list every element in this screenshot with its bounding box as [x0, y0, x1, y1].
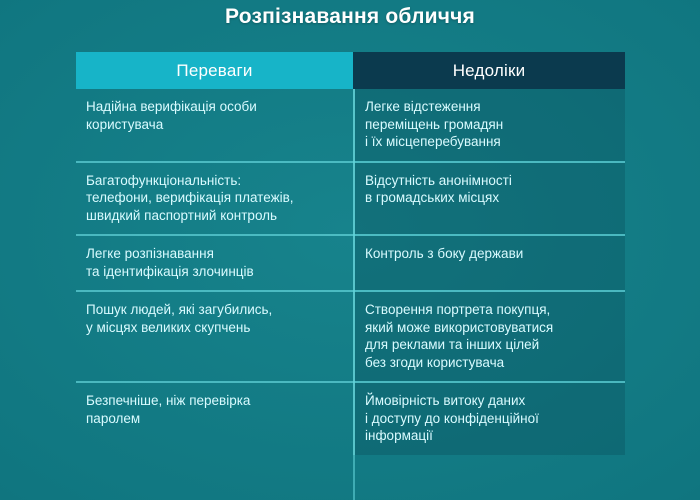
table-header-cons: Недоліки: [353, 52, 625, 89]
table-header-row: Переваги Недоліки: [76, 52, 625, 89]
table-cell-cons: Відсутність анонімності в громадських мі…: [353, 163, 625, 235]
table-cell-pros-text: Легке розпізнавання та ідентифікація зло…: [86, 245, 341, 280]
table-cell-pros: Надійна верифікація особи користувача: [76, 89, 353, 161]
table-row: Легке розпізнавання та ідентифікація зло…: [76, 234, 625, 290]
table-cell-cons-text: Створення портрета покупця, який може ви…: [365, 301, 613, 371]
table-cell-pros-text: Багатофункціональність: телефони, верифі…: [86, 172, 341, 225]
table-cell-cons: Ймовірність витоку даних і доступу до ко…: [353, 383, 625, 455]
table-cell-pros: Багатофункціональність: телефони, верифі…: [76, 163, 353, 235]
table-cell-cons-text: Ймовірність витоку даних і доступу до ко…: [365, 392, 613, 445]
table-cell-pros: Безпечніше, ніж перевірка паролем: [76, 383, 353, 455]
table-cell-pros-text: Надійна верифікація особи користувача: [86, 98, 341, 133]
table-row: Багатофункціональність: телефони, верифі…: [76, 161, 625, 235]
table-header-pros: Переваги: [76, 52, 353, 89]
table-cell-cons: Легке відстеження переміщень громадян і …: [353, 89, 625, 161]
table-body: Надійна верифікація особи користувача Ле…: [76, 89, 625, 455]
slide-canvas: Розпізнавання обличчя Переваги Недоліки …: [0, 0, 700, 500]
table-header-cons-label: Недоліки: [453, 61, 526, 81]
table-row: Пошук людей, які загубились, у місцях ве…: [76, 290, 625, 381]
table-column-divider: [353, 89, 355, 500]
table-cell-pros-text: Пошук людей, які загубились, у місцях ве…: [86, 301, 341, 336]
table-cell-cons: Створення портрета покупця, який може ви…: [353, 292, 625, 381]
table-cell-cons: Контроль з боку держави: [353, 236, 625, 290]
table-header-pros-label: Переваги: [176, 61, 252, 81]
table-cell-pros: Пошук людей, які загубились, у місцях ве…: [76, 292, 353, 381]
table-cell-pros-text: Безпечніше, ніж перевірка паролем: [86, 392, 341, 427]
comparison-table: Переваги Недоліки Надійна верифікація ос…: [76, 52, 625, 455]
table-row: Безпечніше, ніж перевірка паролем Ймовір…: [76, 381, 625, 455]
table-cell-cons-text: Контроль з боку держави: [365, 245, 613, 263]
table-cell-cons-text: Легке відстеження переміщень громадян і …: [365, 98, 613, 151]
page-title: Розпізнавання обличчя: [0, 5, 700, 29]
table-cell-cons-text: Відсутність анонімності в громадських мі…: [365, 172, 613, 207]
table-row: Надійна верифікація особи користувача Ле…: [76, 89, 625, 161]
table-cell-pros: Легке розпізнавання та ідентифікація зло…: [76, 236, 353, 290]
